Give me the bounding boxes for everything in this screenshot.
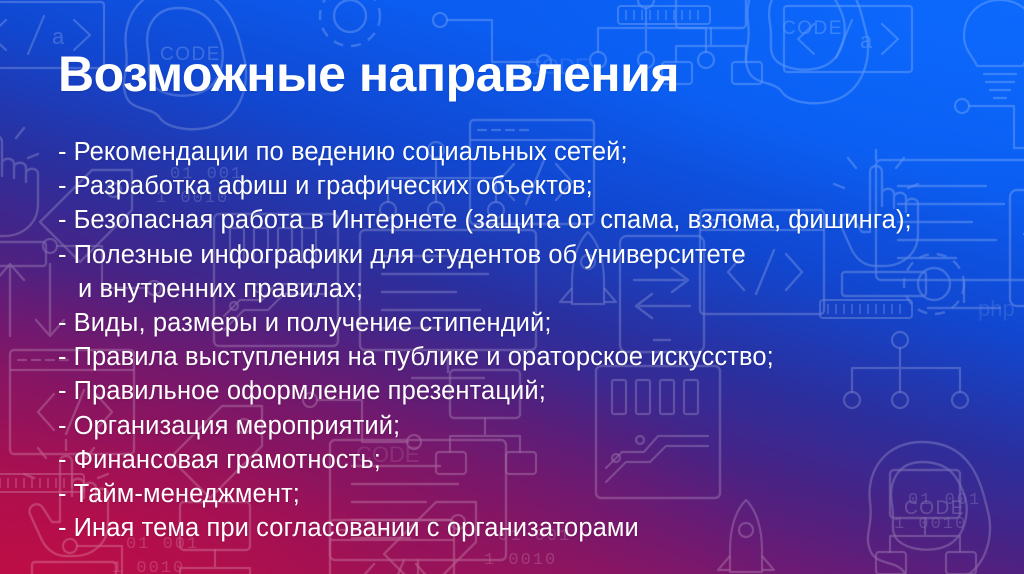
list-item-label: Организация мероприятий; <box>74 412 401 440</box>
list-item: -Финансовая грамотность; <box>58 443 1008 477</box>
list-item: -Рекомендации по ведению социальных сете… <box>58 135 1008 169</box>
bullet-dash: - <box>58 309 67 337</box>
list-item: -Иная тема при согласовании с организато… <box>58 511 1008 545</box>
list-item-label: Рекомендации по ведению социальных сетей… <box>74 138 628 166</box>
list-item-label: Иная тема при согласовании с организатор… <box>74 514 639 542</box>
bullet-dash: - <box>58 138 67 166</box>
list-item-label: Финансовая грамотность; <box>74 446 381 474</box>
bullet-dash: - <box>58 206 67 234</box>
presentation-slide: a <box>0 0 1024 574</box>
bullet-dash: - <box>58 480 67 508</box>
list-item: -Полезные инфографики для студентов об у… <box>58 238 1008 272</box>
list-item-label: Тайм-менеджмент; <box>74 480 300 508</box>
list-item-continuation: и внутренних правилах; <box>58 272 1008 306</box>
bullet-dash: - <box>58 377 67 405</box>
list-item-label: Полезные инфографики для студентов об ун… <box>74 241 746 269</box>
slide-content: Возможные направления -Рекомендации по в… <box>0 0 1024 574</box>
list-item: -Тайм-менеджмент; <box>58 477 1008 511</box>
list-item: -Правила выступления на публике и оратор… <box>58 340 1008 374</box>
bullet-dash: - <box>58 412 67 440</box>
bullet-dash: - <box>58 446 67 474</box>
list-item-label: и внутренних правилах; <box>78 275 363 303</box>
list-item-label: Разработка афиш и графических объектов; <box>74 172 593 200</box>
list-item: -Организация мероприятий; <box>58 409 1008 443</box>
list-item-label: Правила выступления на публике и ораторс… <box>74 343 774 371</box>
list-item-label: Правильное оформление презентаций; <box>74 377 546 405</box>
list-item: -Разработка афиш и графических объектов; <box>58 169 1008 203</box>
list-item: -Виды, размеры и получение стипендий; <box>58 306 1008 340</box>
bullet-dash: - <box>58 241 67 269</box>
list-item-label: Безопасная работа в Интернете (защита от… <box>74 206 912 234</box>
bullet-dash: - <box>58 343 67 371</box>
page-title: Возможные направления <box>58 49 679 99</box>
bullet-dash: - <box>58 172 67 200</box>
list-item: -Безопасная работа в Интернете (защита о… <box>58 203 1008 237</box>
bullet-list: -Рекомендации по ведению социальных сете… <box>58 135 1008 545</box>
list-item: -Правильное оформление презентаций; <box>58 374 1008 408</box>
list-item-label: Виды, размеры и получение стипендий; <box>74 309 552 337</box>
bullet-dash: - <box>58 514 67 542</box>
